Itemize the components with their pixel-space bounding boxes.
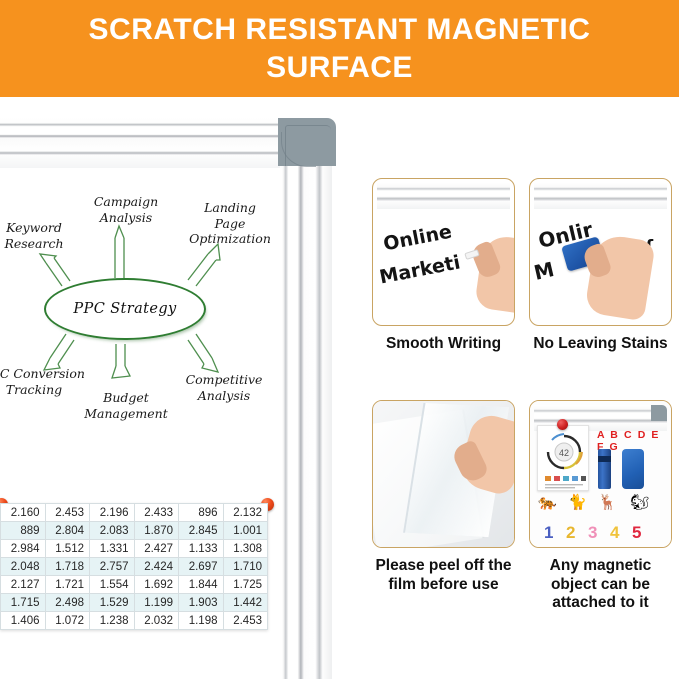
- round-magnet-icon: [557, 419, 568, 430]
- table-cell: 1.072: [45, 612, 90, 630]
- banner: SCRATCH RESISTANT MAGNETIC SURFACE: [0, 0, 679, 97]
- mindmap-node-keyword-research: Keyword Research: [0, 220, 82, 251]
- eraser-icon: [622, 449, 644, 489]
- mindmap-node-ppc-conversion-tracking: PPC Conversion Tracking: [0, 366, 94, 397]
- number-magnet: 5: [632, 523, 641, 543]
- marker-pen-icon: [598, 449, 611, 489]
- table-cell: 1.710: [223, 558, 268, 576]
- table-cell: 2.984: [1, 540, 46, 558]
- table-row: 2.9841.5121.3312.4271.1331.308: [1, 540, 268, 558]
- table-cell: 2.132: [223, 504, 268, 522]
- animal-magnet: 🐅: [538, 495, 557, 510]
- number-magnet: 3: [588, 523, 597, 543]
- table-cell: 2.424: [134, 558, 179, 576]
- mini-corner-cap: [651, 405, 667, 421]
- table-cell: 1.870: [134, 522, 179, 540]
- table-cell: 2.433: [134, 504, 179, 522]
- mindmap-center-label: PPC Strategy: [73, 301, 176, 317]
- feature-cell-magnetic-attachment: 42 A B: [529, 400, 672, 613]
- product-feature-image: SCRATCH RESISTANT MAGNETIC SURFACE: [0, 0, 679, 679]
- whiteboard-top-frame: [0, 118, 302, 168]
- table-cell: 1.554: [90, 576, 135, 594]
- mindmap-center-ellipse: PPC Strategy: [44, 278, 206, 340]
- table-cell: 2.196: [90, 504, 135, 522]
- mindmap-node-campaign-analysis: Campaign Analysis: [78, 194, 174, 225]
- table-cell: 1.721: [45, 576, 90, 594]
- feature-grid: Online Marketi Smooth Writing Onlir M ʃ: [372, 178, 672, 648]
- photo-no-leaving-stains: Onlir M ʃ: [529, 178, 672, 326]
- table-cell: 1.903: [179, 594, 224, 612]
- table-cell: 2.427: [134, 540, 179, 558]
- number-magnet: 1: [544, 523, 553, 543]
- caption-magnetic-attachment: Any magnetic object can be attached to i…: [529, 557, 672, 613]
- table-cell: 2.845: [179, 522, 224, 540]
- animal-magnet: 🐿: [630, 495, 649, 510]
- table-cell: 1.529: [90, 594, 135, 612]
- table-cell: 2.453: [45, 504, 90, 522]
- table-cell: 1.692: [134, 576, 179, 594]
- table-cell: 2.127: [1, 576, 46, 594]
- table-row: 1.4061.0721.2382.0321.1982.453: [1, 612, 268, 630]
- handwriting-line-2: Marketi: [378, 251, 462, 288]
- photo-magnetic-attachment: 42 A B: [529, 400, 672, 548]
- table-cell: 2.032: [134, 612, 179, 630]
- paper-chart: 42: [538, 426, 590, 492]
- table-cell: 1.442: [223, 594, 268, 612]
- animal-magnet: 🐈: [568, 495, 587, 510]
- caption-no-leaving-stains: No Leaving Stains: [529, 335, 672, 354]
- feature-cell-smooth-writing: Online Marketi Smooth Writing: [372, 178, 515, 354]
- table-cell: 2.083: [90, 522, 135, 540]
- table-cell: 896: [179, 504, 224, 522]
- banner-title: SCRATCH RESISTANT MAGNETIC SURFACE: [0, 11, 679, 86]
- table-cell: 2.160: [1, 504, 46, 522]
- whiteboard-illustration: Keyword Research Campaign Analysis Landi…: [0, 118, 352, 679]
- mini-whiteboard-frame: [534, 183, 667, 209]
- whiteboard-corner-cap: [278, 118, 336, 166]
- table-cell: 1.001: [223, 522, 268, 540]
- table-cell: 2.804: [45, 522, 90, 540]
- table-cell: 2.048: [1, 558, 46, 576]
- table-row: 8892.8042.0831.8702.8451.001: [1, 522, 268, 540]
- mindmap-node-competitive-analysis: Competitive Analysis: [174, 372, 274, 403]
- table-cell: 2.697: [179, 558, 224, 576]
- table-cell: 1.331: [90, 540, 135, 558]
- ppc-strategy-mindmap: Keyword Research Campaign Analysis Landi…: [0, 168, 282, 468]
- caption-smooth-writing: Smooth Writing: [372, 335, 515, 354]
- table-cell: 889: [1, 522, 46, 540]
- table-cell: 1.133: [179, 540, 224, 558]
- numeric-table: 2.1602.4532.1962.4338962.1328892.8042.08…: [0, 503, 268, 630]
- table-row: 2.1602.4532.1962.4338962.132: [1, 504, 268, 522]
- feature-cell-no-leaving-stains: Onlir M ʃ No Leaving Stains: [529, 178, 672, 354]
- photo-smooth-writing: Online Marketi: [372, 178, 515, 326]
- photo-peel-off-film: [372, 400, 515, 548]
- whiteboard-right-frame: [280, 160, 332, 679]
- caption-peel-off-film: Please peel off the film before use: [372, 557, 515, 594]
- svg-text:42: 42: [559, 448, 569, 458]
- table-cell: 1.718: [45, 558, 90, 576]
- handwriting-line-1: Online: [382, 221, 454, 256]
- table-cell: 2.453: [223, 612, 268, 630]
- numeric-table-wrapper: 2.1602.4532.1962.4338962.1328892.8042.08…: [0, 503, 268, 630]
- table-cell: 2.498: [45, 594, 90, 612]
- feature-cell-peel-off-film: Please peel off the film before use: [372, 400, 515, 594]
- table-cell: 1.308: [223, 540, 268, 558]
- table-row: 2.0481.7182.7572.4242.6971.710: [1, 558, 268, 576]
- table-cell: 1.198: [179, 612, 224, 630]
- whiteboard-surface: Keyword Research Campaign Analysis Landi…: [0, 168, 282, 679]
- mindmap-node-landing-page-optimization: Landing Page Optimization: [178, 200, 282, 247]
- mini-whiteboard-frame: [377, 183, 510, 209]
- magnet-held-paper: 42: [537, 425, 589, 491]
- table-cell: 1.512: [45, 540, 90, 558]
- number-magnet: 4: [610, 523, 619, 543]
- table-cell: 1.199: [134, 594, 179, 612]
- table-row: 1.7152.4981.5291.1991.9031.442: [1, 594, 268, 612]
- table-cell: 1.844: [179, 576, 224, 594]
- table-cell: 1.406: [1, 612, 46, 630]
- table-cell: 1.238: [90, 612, 135, 630]
- table-cell: 1.725: [223, 576, 268, 594]
- number-magnet: 2: [566, 523, 575, 543]
- table-cell: 1.715: [1, 594, 46, 612]
- handwriting-line-2: M: [532, 257, 557, 285]
- animal-magnet: 🦌: [598, 495, 617, 510]
- table-row: 2.1271.7211.5541.6921.8441.725: [1, 576, 268, 594]
- table-cell: 2.757: [90, 558, 135, 576]
